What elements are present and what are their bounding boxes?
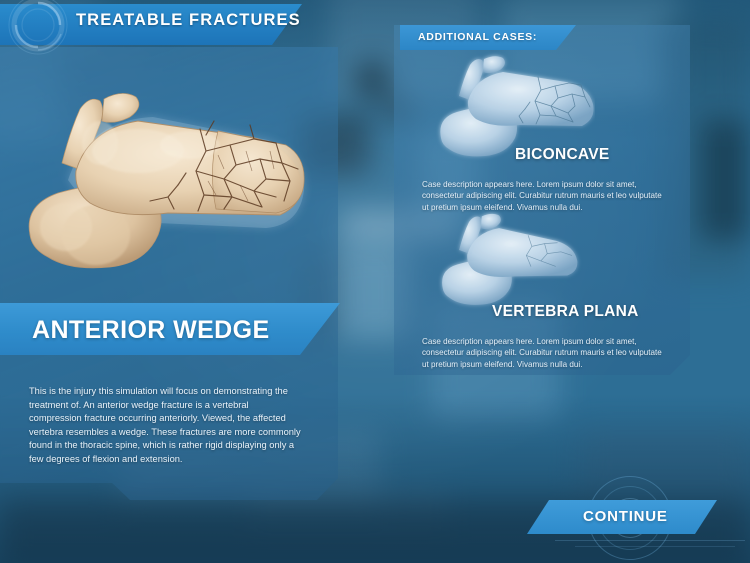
main-case-image <box>0 47 338 297</box>
case-description-biconcave: Case description appears here. Lorem ips… <box>422 179 670 213</box>
case-description-vertebra-plana: Case description appears here. Lorem ips… <box>422 336 670 370</box>
continue-button-label[interactable]: CONTINUE <box>583 508 668 525</box>
hud-line-2 <box>575 546 735 547</box>
vertebra-plana-vertebra-icon <box>435 210 585 310</box>
case-title-vertebra-plana: VERTEBRA PLANA <box>492 303 639 321</box>
case-title-biconcave: BICONCAVE <box>515 146 610 164</box>
anterior-wedge-vertebra-icon <box>18 85 318 280</box>
step-circle-icon <box>4 0 76 62</box>
simulation-screen: 1 TREATABLE FRACTURES <box>0 0 750 563</box>
additional-cases-label: ADDITIONAL CASES: <box>418 31 537 43</box>
main-case-description: This is the injury this simulation will … <box>29 385 301 466</box>
main-case-title: ANTERIOR WEDGE <box>32 316 270 345</box>
page-title: TREATABLE FRACTURES <box>76 11 301 30</box>
hud-line-1 <box>555 540 745 541</box>
